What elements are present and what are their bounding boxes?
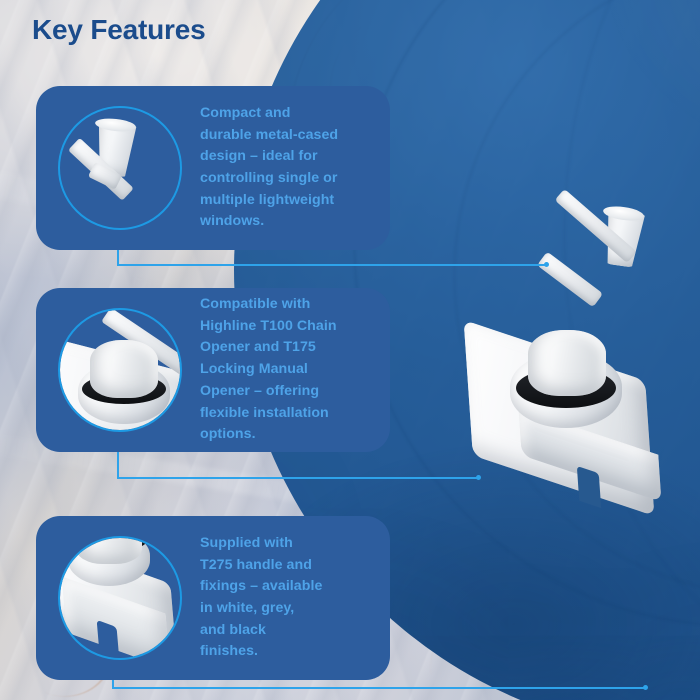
feature-thumbnail-1 <box>58 106 182 230</box>
infographic-canvas: Key Features Compact and durable metal-c… <box>0 0 700 700</box>
thumb3-knob <box>76 538 142 564</box>
feature-card-2[interactable]: Compatible with Highline T100 Chain Open… <box>36 288 390 452</box>
feature-card-3[interactable]: Supplied with T275 handle and fixings – … <box>36 516 390 680</box>
hero-crank-arm-lower <box>537 252 603 308</box>
feature-text-3: Supplied with T275 handle and fixings – … <box>200 533 332 663</box>
page-title: Key Features <box>32 14 205 46</box>
feature-card-1[interactable]: Compact and durable metal-cased design –… <box>36 86 390 250</box>
feature-thumbnail-2 <box>58 308 182 432</box>
feature-text-2: Compatible with Highline T100 Chain Open… <box>200 294 347 446</box>
thumb2-knob <box>90 340 158 398</box>
feature-thumbnail-3 <box>58 536 182 660</box>
hero-knob <box>528 330 606 396</box>
feature-text-1: Compact and durable metal-cased design –… <box>200 103 348 233</box>
